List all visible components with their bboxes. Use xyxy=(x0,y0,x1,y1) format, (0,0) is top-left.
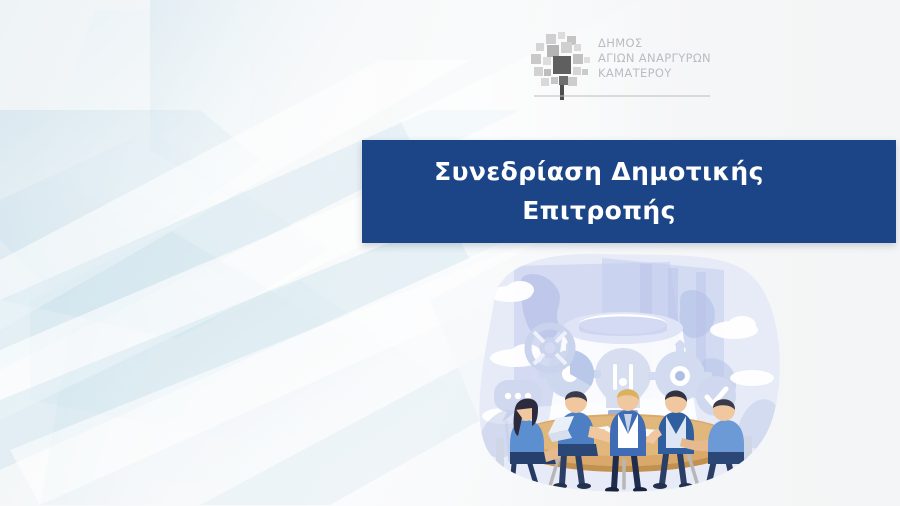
tree-logo-icon xyxy=(528,30,596,100)
banner-title-line-2: Επιτροπής xyxy=(522,192,676,231)
municipality-logo: ΔΗΜΟΣ ΑΓΙΩΝ ΑΝΑΡΓΥΡΩΝ ΚΑΜΑΤΕΡΟΥ xyxy=(528,30,713,108)
logo-wordmark: ΔΗΜΟΣ ΑΓΙΩΝ ΑΝΑΡΓΥΡΩΝ ΚΑΜΑΤΕΡΟΥ xyxy=(598,36,711,82)
logo-line-3: ΚΑΜΑΤΕΡΟΥ xyxy=(598,66,711,81)
banner-title-line-1: Συνεδρίαση Δημοτικής xyxy=(434,153,764,192)
presentation-slide: ΔΗΜΟΣ ΑΓΙΩΝ ΑΝΑΡΓΥΡΩΝ ΚΑΜΑΤΕΡΟΥ Συνεδρία… xyxy=(0,0,900,506)
logo-underline xyxy=(534,93,710,99)
logo-line-1: ΔΗΜΟΣ xyxy=(598,36,711,51)
business-meeting-illustration xyxy=(452,248,792,496)
title-banner: Συνεδρίαση Δημοτικής Επιτροπής xyxy=(362,140,896,243)
logo-line-2: ΑΓΙΩΝ ΑΝΑΡΓΥΡΩΝ xyxy=(598,51,711,66)
